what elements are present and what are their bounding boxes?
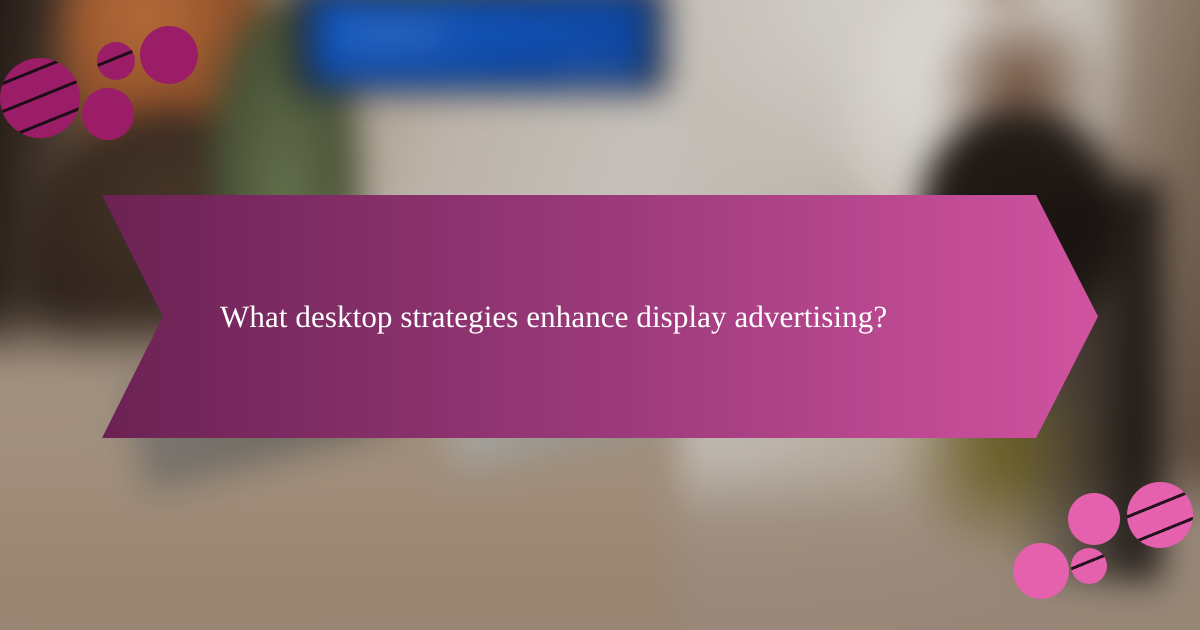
striped-circle-large [1127, 482, 1193, 548]
headline-text: What desktop strategies enhance display … [220, 195, 887, 438]
plain-circle-large [1068, 493, 1120, 545]
plain-circle-medium [1013, 543, 1069, 599]
striped-circle-small [1071, 548, 1107, 584]
headline-ribbon: What desktop strategies enhance display … [102, 195, 1098, 438]
banner-canvas: What desktop strategies enhance display … [0, 0, 1200, 630]
